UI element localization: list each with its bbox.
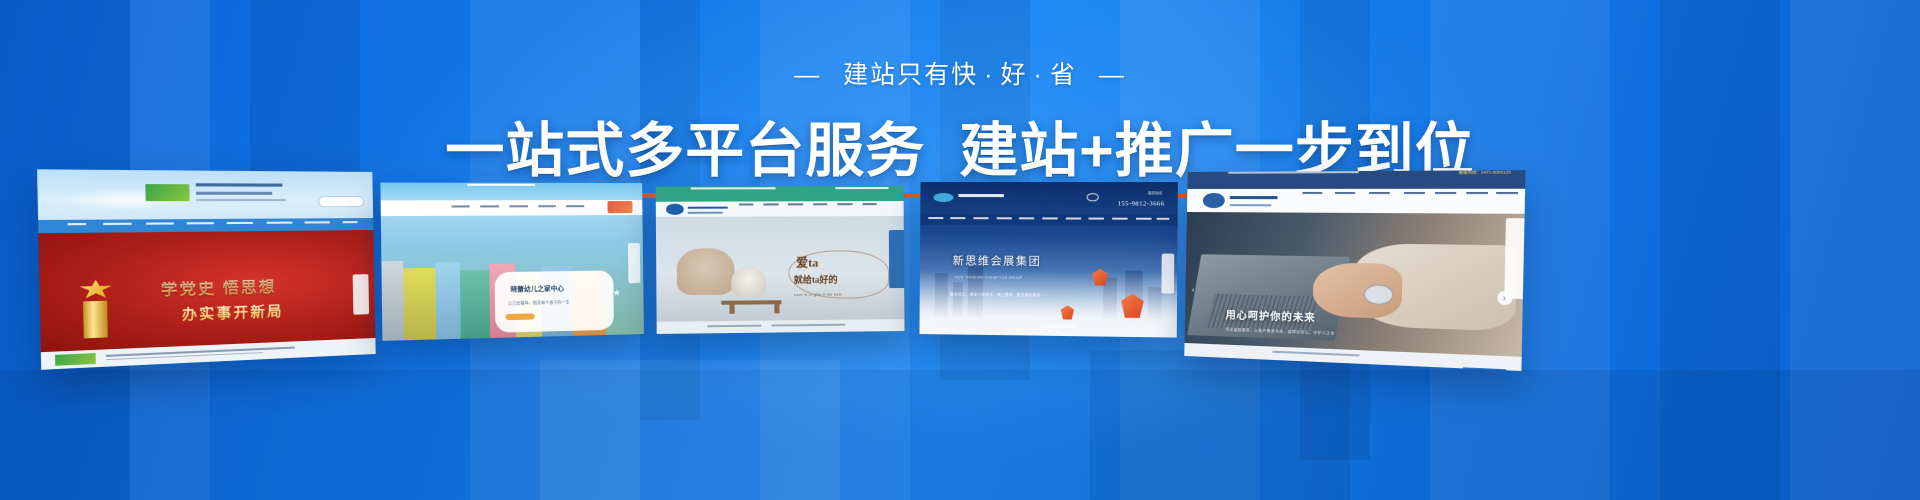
website-showcase-row: 学党史 悟思想 办实事开新局 (0, 0, 1920, 500)
card1-logo-icon (145, 184, 190, 202)
card1-footer-logo-icon (56, 353, 96, 366)
card1-search-input[interactable] (318, 196, 364, 207)
card3-hero-english: Love is to give it the best (794, 293, 842, 297)
card4-side-widget[interactable] (1161, 253, 1174, 294)
card5-navbar[interactable] (1187, 188, 1525, 214)
card2-cta-button[interactable] (505, 314, 534, 321)
card4-phone-label: 服务热线 (1148, 192, 1162, 196)
hero-banner: —建站只有快·好·省— 一站式多平台服务建站+推广一步到位 (0, 0, 1920, 500)
showcase-card-kindergarten[interactable]: 晓蕾幼儿之家中心 让工匠精神，照亮每个孩子的一生 ★ (380, 183, 644, 341)
card1-emblem-icon (79, 279, 112, 298)
card1-monument-icon (84, 300, 108, 338)
showcase-card-exhibition-group[interactable]: 服务热线 155-9812-3666 新思维会展集团 NEW THINKING … (919, 182, 1177, 338)
card2-logo-icon (607, 201, 632, 213)
card3-hero-line-1: 爱ta (796, 256, 818, 269)
card1-hero-line-2: 办实事开新局 (182, 304, 284, 323)
card4-hero-english: NEW THINKING EXHIBITION GROUP (955, 277, 1022, 281)
showcase-card-pet-cat[interactable]: 爱ta 就给ta好的 Love is to give it the best (656, 186, 905, 334)
card5-service-hotline: 客服热线：0471-6000125 (1458, 171, 1510, 176)
card2-side-widget[interactable] (628, 243, 641, 282)
card3-hero-line-2: 就给ta好的 (794, 276, 838, 286)
card2-star-icon: ★ (613, 289, 621, 299)
card5-online-chat-button[interactable] (1463, 368, 1506, 371)
card4-logo-icon (933, 193, 953, 202)
card3-navbar[interactable] (656, 200, 904, 217)
card5-side-widget[interactable] (1505, 218, 1525, 298)
showcase-card-party-education[interactable]: 学党史 悟思想 办实事开新局 (37, 169, 376, 369)
card2-top-button[interactable] (597, 183, 630, 184)
card4-hero-title: 新思维会展集团 (953, 255, 1042, 268)
card3-cat-image-2 (731, 267, 766, 296)
showcase-card-insurance[interactable]: 客服热线：0471-6000125 (1184, 170, 1525, 371)
card4-phone-number: 155-9812-3666 (1118, 201, 1165, 208)
card1-side-widget[interactable] (353, 274, 369, 315)
card4-navbar[interactable] (920, 214, 1177, 226)
card3-side-widget[interactable] (889, 230, 904, 288)
card3-footer (657, 319, 905, 334)
card2-navbar[interactable] (381, 200, 643, 216)
card1-hero-line-1: 学党史 悟思想 (161, 280, 277, 300)
card5-logo-icon (1203, 193, 1225, 208)
card3-logo-icon (666, 204, 684, 214)
chevron-left-icon[interactable]: ‹ (1192, 286, 1195, 295)
card2-balloon-title: 晓蕾幼儿之家中心 (510, 285, 564, 293)
card3-cat-image (676, 248, 734, 294)
